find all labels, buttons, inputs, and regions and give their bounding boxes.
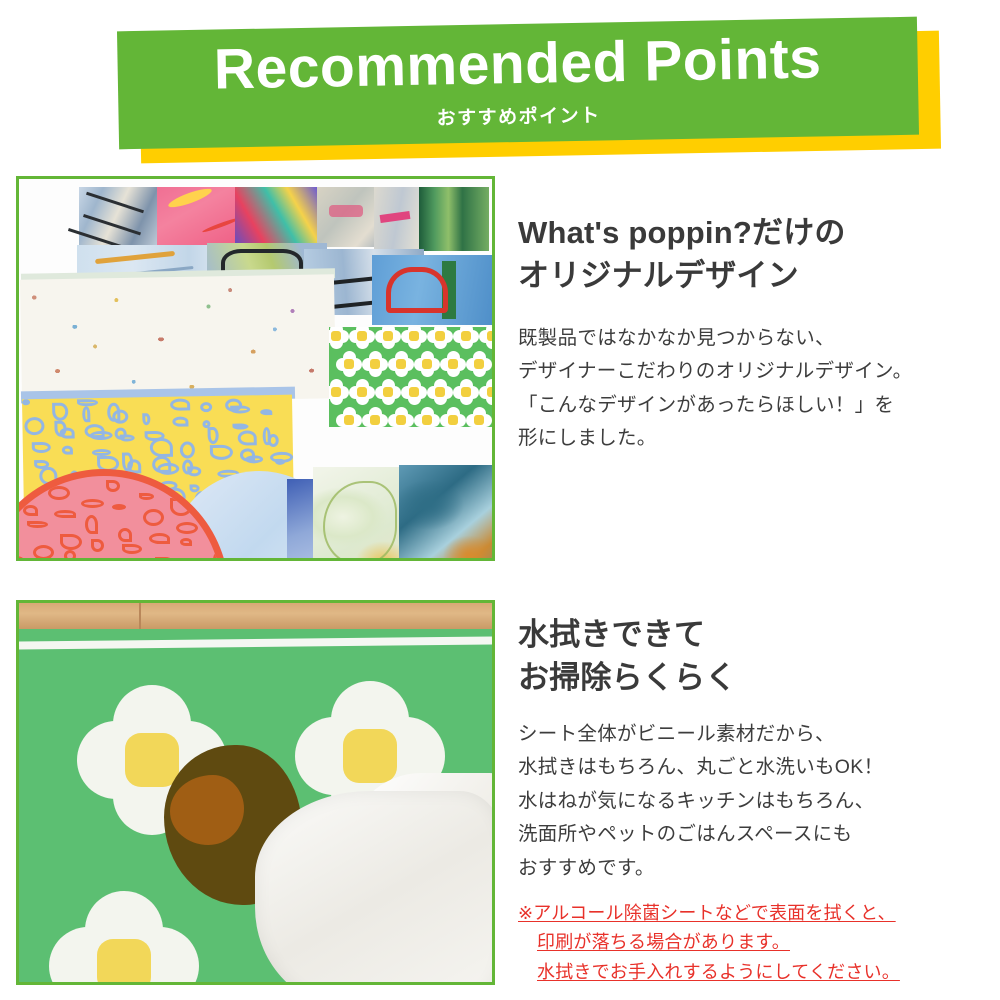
- body-line: デザイナーこだわりのオリジナルデザイン。: [518, 355, 996, 389]
- flower-motif: [479, 379, 495, 405]
- flower-motif: [466, 351, 492, 377]
- sheet-marble-teal-gold: [399, 465, 495, 561]
- flower-motif: [336, 351, 362, 377]
- sheet-graffiti-pink: [157, 187, 235, 249]
- flower-motif: [362, 351, 388, 377]
- squiggle-motif: [54, 421, 66, 437]
- sheet-graffiti-grey: [374, 187, 422, 249]
- sheet-graffiti-multicolor: [235, 187, 317, 249]
- squiggle-motif: [24, 417, 44, 435]
- squiggle-motif: [149, 533, 170, 544]
- flower-motif: [375, 379, 401, 405]
- squiggle-motif: [106, 480, 120, 492]
- squiggle-motif: [180, 538, 192, 546]
- body-line: シート全体がビニール素材だから、: [518, 718, 996, 752]
- heading-line-1: What's poppin?だけの: [518, 212, 996, 255]
- flower-motif: [349, 327, 375, 349]
- squiggle-motif: [270, 452, 293, 463]
- squiggle-motif: [197, 487, 220, 506]
- squiggle-motif: [54, 510, 76, 518]
- squiggle-motif: [210, 445, 233, 460]
- squiggle-motif: [139, 493, 154, 500]
- flower-motif: [427, 327, 453, 349]
- squiggle-motif: [64, 550, 76, 561]
- page-subtitle: おすすめポイント: [436, 100, 600, 130]
- squiggle-motif: [143, 509, 164, 526]
- squiggle-motif: [122, 544, 142, 554]
- squiggle-motif: [155, 557, 176, 561]
- squiggle-motif: [172, 416, 188, 426]
- squiggle-motif: [107, 403, 120, 422]
- flower-motif: [329, 379, 349, 405]
- note-line: 水拭きでお手入れするようにしてください。: [537, 962, 900, 982]
- squiggle-motif: [170, 498, 192, 516]
- towel: [255, 791, 492, 982]
- body-line: 水拭きはもちろん、丸ごと水洗いもOK！: [518, 751, 996, 785]
- heading-easy-clean: 水拭きできて お掃除らくらく: [518, 614, 996, 700]
- flower-motif: [414, 351, 440, 377]
- squiggle-motif: [82, 406, 90, 422]
- squiggle-motif: [84, 424, 104, 438]
- squiggle-motif: [52, 403, 68, 421]
- flower-motif: [329, 327, 349, 349]
- body-line: 形にしました。: [518, 422, 996, 456]
- note-line: 印刷が落ちる場合があります。: [537, 932, 790, 952]
- body-line: 「こんなデザインがあったらほしい！」を: [518, 389, 996, 423]
- squiggle-motif: [118, 528, 132, 542]
- flower-motif: [440, 407, 466, 427]
- design-sheet-collage: [19, 179, 492, 558]
- squiggle-motif: [142, 413, 150, 425]
- squiggle-motif: [200, 402, 212, 412]
- squiggle-motif: [238, 430, 257, 445]
- flower-motif: [453, 379, 479, 405]
- squiggle-motif: [48, 486, 70, 500]
- photo-original-design: [16, 176, 495, 561]
- squiggle-motif: [17, 481, 32, 498]
- squiggle-motif: [62, 445, 73, 454]
- flower-motif: [349, 379, 375, 405]
- flower-motif: [362, 407, 388, 427]
- squiggle-motif: [260, 409, 272, 415]
- squiggle-motif: [152, 456, 171, 473]
- text-column-original-design: What's poppin?だけの オリジナルデザイン 既製品ではなかなか見つか…: [518, 212, 996, 456]
- heading-line-1: 水拭きできて: [518, 614, 996, 657]
- squiggle-motif: [180, 441, 195, 458]
- squiggle-motif: [207, 527, 220, 536]
- flower-motif: [440, 351, 466, 377]
- body-easy-clean: シート全体がビニール素材だから、 水拭きはもちろん、丸ごと水洗いもOK！ 水はね…: [518, 718, 996, 886]
- squiggle-motif: [202, 420, 210, 428]
- squiggle-motif: [170, 398, 190, 410]
- photo-easy-clean: [16, 600, 495, 985]
- section-easy-clean: 水拭きできて お掃除らくらく シート全体がビニール素材だから、 水拭きはもちろん…: [0, 596, 1000, 996]
- note-easy-clean: ※アルコール除菌シートなどで表面を拭くと、 印刷が落ちる場合があります。 水拭き…: [518, 899, 996, 986]
- flower-motif: [466, 407, 492, 427]
- squiggle-motif: [33, 545, 54, 560]
- squiggle-motif: [81, 499, 104, 508]
- vinyl-mat-scene: [19, 603, 492, 982]
- flower-motif: [453, 327, 479, 349]
- body-original-design: 既製品ではなかなか見つからない、 デザイナーこだわりのオリジナルデザイン。 「こ…: [518, 322, 996, 456]
- heading-line-2: お掃除らくらく: [518, 657, 996, 700]
- flower-motif: [388, 351, 414, 377]
- squiggle-motif: [208, 427, 219, 444]
- squiggle-motif: [22, 399, 30, 405]
- flower-motif: [414, 407, 440, 427]
- flower-motif: [388, 407, 414, 427]
- section-original-design: What's poppin?だけの オリジナルデザイン 既製品ではなかなか見つか…: [0, 170, 1000, 570]
- squiggle-motif: [23, 505, 38, 516]
- heading-line-2: オリジナルデザイン: [518, 255, 996, 298]
- squiggle-motif: [182, 459, 193, 474]
- squiggle-motif: [122, 452, 133, 471]
- flower-motif: [401, 379, 427, 405]
- page-header: Recommended Points おすすめポイント: [0, 0, 1000, 170]
- squiggle-motif: [60, 534, 82, 550]
- body-line: おすすめです。: [518, 852, 996, 886]
- squiggle-motif: [232, 423, 248, 429]
- text-column-easy-clean: 水拭きできて お掃除らくらく シート全体がビニール素材だから、 水拭きはもちろん…: [518, 614, 996, 987]
- sheet-graffiti-blue: [372, 255, 492, 325]
- squiggle-motif: [32, 442, 51, 453]
- squiggle-motif: [85, 515, 98, 534]
- sheet-graffiti-green: [419, 187, 489, 251]
- squiggle-motif: [263, 427, 271, 445]
- sheet-terrazzo: [20, 274, 336, 403]
- flower-motif: [336, 407, 362, 427]
- header-green-banner: Recommended Points おすすめポイント: [117, 17, 919, 150]
- flower-motif: [492, 351, 495, 377]
- wood-floor: [19, 603, 492, 629]
- squiggle-motif: [27, 521, 48, 528]
- squiggle-motif: [176, 522, 198, 534]
- flower-motif: [479, 327, 495, 349]
- flower-motif: [375, 327, 401, 349]
- squiggle-motif: [112, 504, 126, 510]
- squiggle-motif: [16, 556, 26, 561]
- flower-motif: [427, 379, 453, 405]
- body-line: 既製品ではなかなか見つからない、: [518, 322, 996, 356]
- squiggle-motif: [240, 448, 255, 461]
- squiggle-motif: [77, 399, 98, 406]
- page-title: Recommended Points: [213, 30, 822, 98]
- flower-motif: [401, 327, 427, 349]
- mat-flower: [49, 891, 199, 982]
- note-line: ※アルコール除菌シートなどで表面を拭くと、: [518, 903, 896, 923]
- heading-original-design: What's poppin?だけの オリジナルデザイン: [518, 212, 996, 298]
- sheet-marble-green-gold: [313, 467, 409, 561]
- squiggle-motif: [91, 539, 104, 552]
- flower-motif: [492, 407, 495, 427]
- sheet-green-flower: [329, 327, 495, 427]
- body-line: 洗面所やペットのごはんスペースにも: [518, 818, 996, 852]
- body-line: 水はねが気になるキッチンはもちろん、: [518, 785, 996, 819]
